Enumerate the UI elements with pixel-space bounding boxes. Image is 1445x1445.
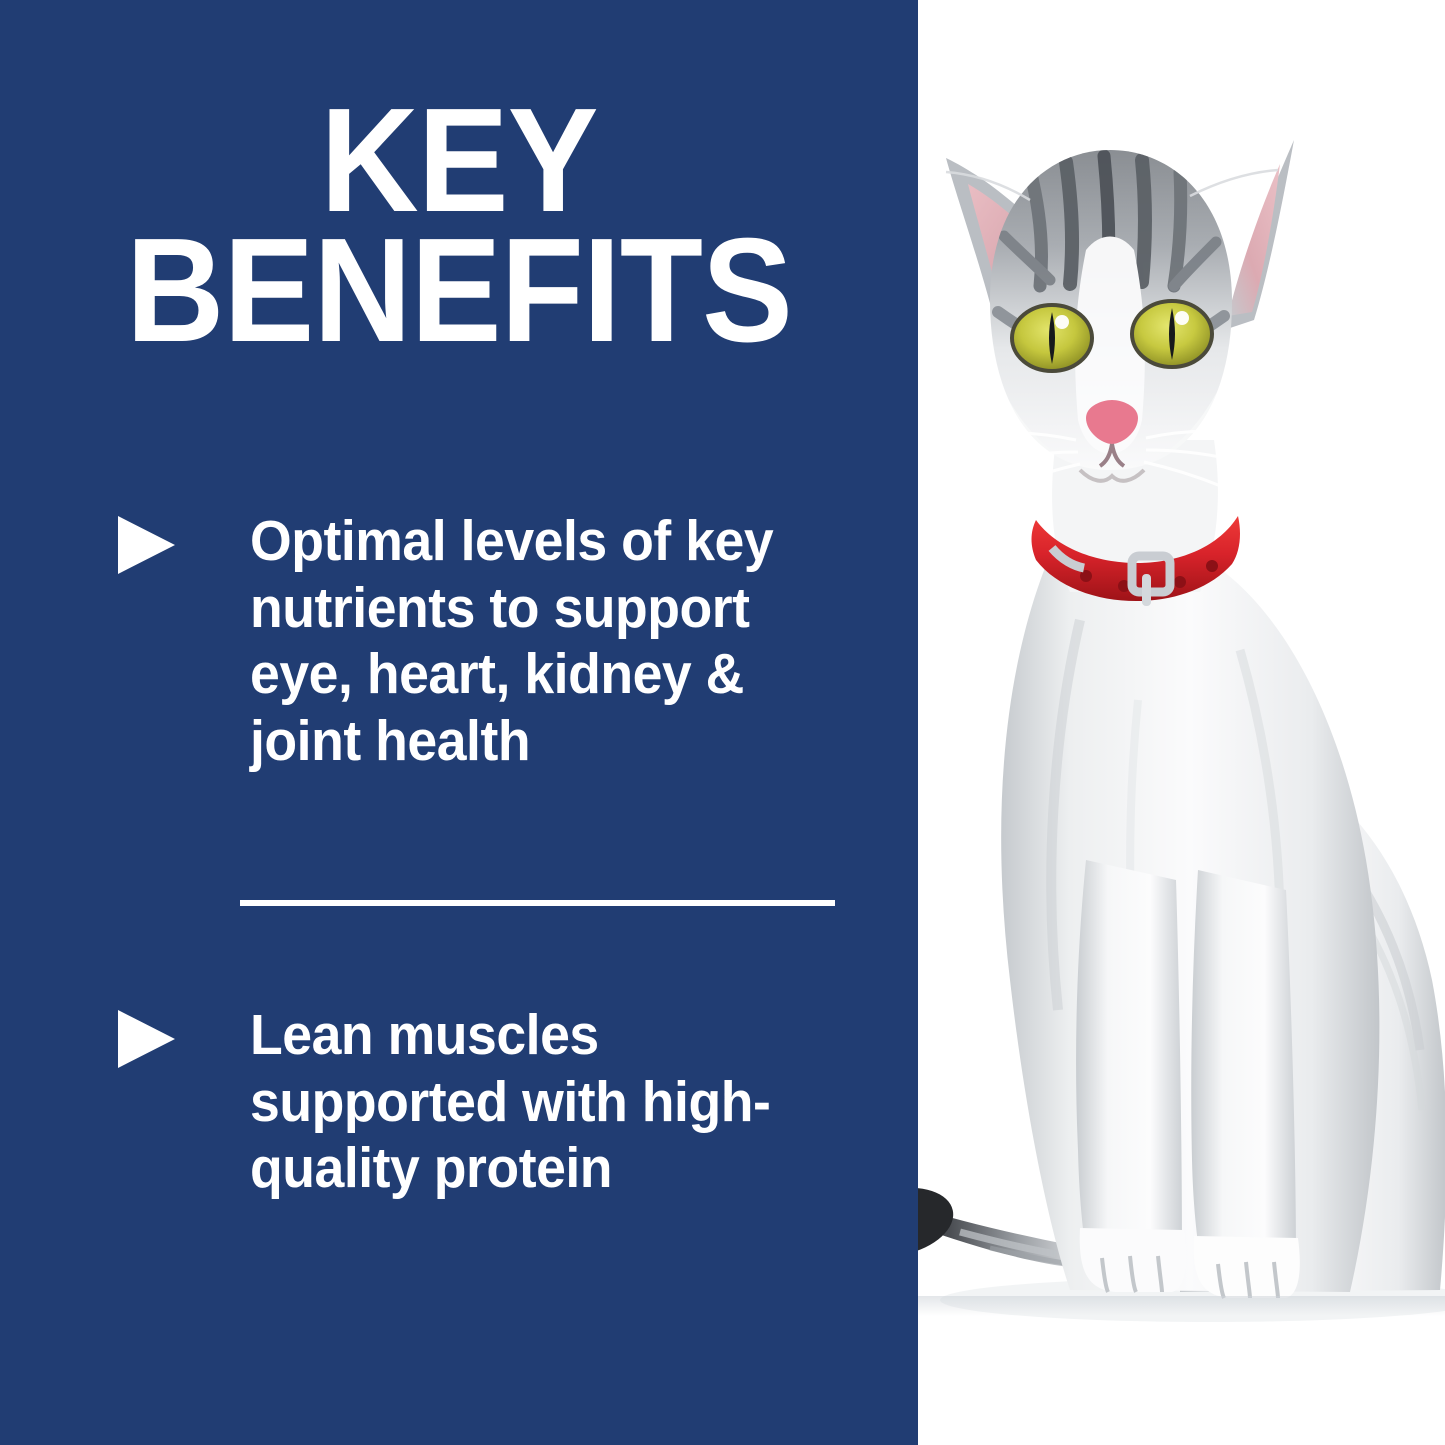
floor-shadow: [900, 1296, 1445, 1316]
cat-front-leg-right: [1191, 870, 1296, 1294]
product-benefits-graphic: KEY BENEFITS Optimal levels of key nutri…: [0, 0, 1445, 1445]
cat-eye-right: [1132, 301, 1212, 367]
benefit-item-1: Optimal levels of key nutrients to suppo…: [118, 508, 878, 775]
benefit-item-2-label: Lean muscles supported with high-quality…: [250, 1002, 840, 1202]
triangle-right-icon: [118, 1010, 175, 1068]
key-benefits-panel: KEY BENEFITS Optimal levels of key nutri…: [0, 0, 918, 1445]
page-title-line-1: KEY: [37, 96, 882, 226]
cat-eye-left: [1012, 305, 1092, 371]
cat-torso: [1001, 556, 1379, 1292]
benefit-divider: [240, 900, 835, 906]
benefit-item-1-label: Optimal levels of key nutrients to suppo…: [250, 508, 840, 775]
benefit-item-2: Lean muscles supported with high-quality…: [118, 1002, 878, 1202]
cat-front-leg-left: [1076, 860, 1182, 1288]
cat-photo: [880, 0, 1445, 1445]
triangle-right-icon: [118, 516, 175, 574]
page-title-line-2: BENEFITS: [37, 226, 882, 356]
page-title: KEY BENEFITS: [37, 96, 882, 356]
